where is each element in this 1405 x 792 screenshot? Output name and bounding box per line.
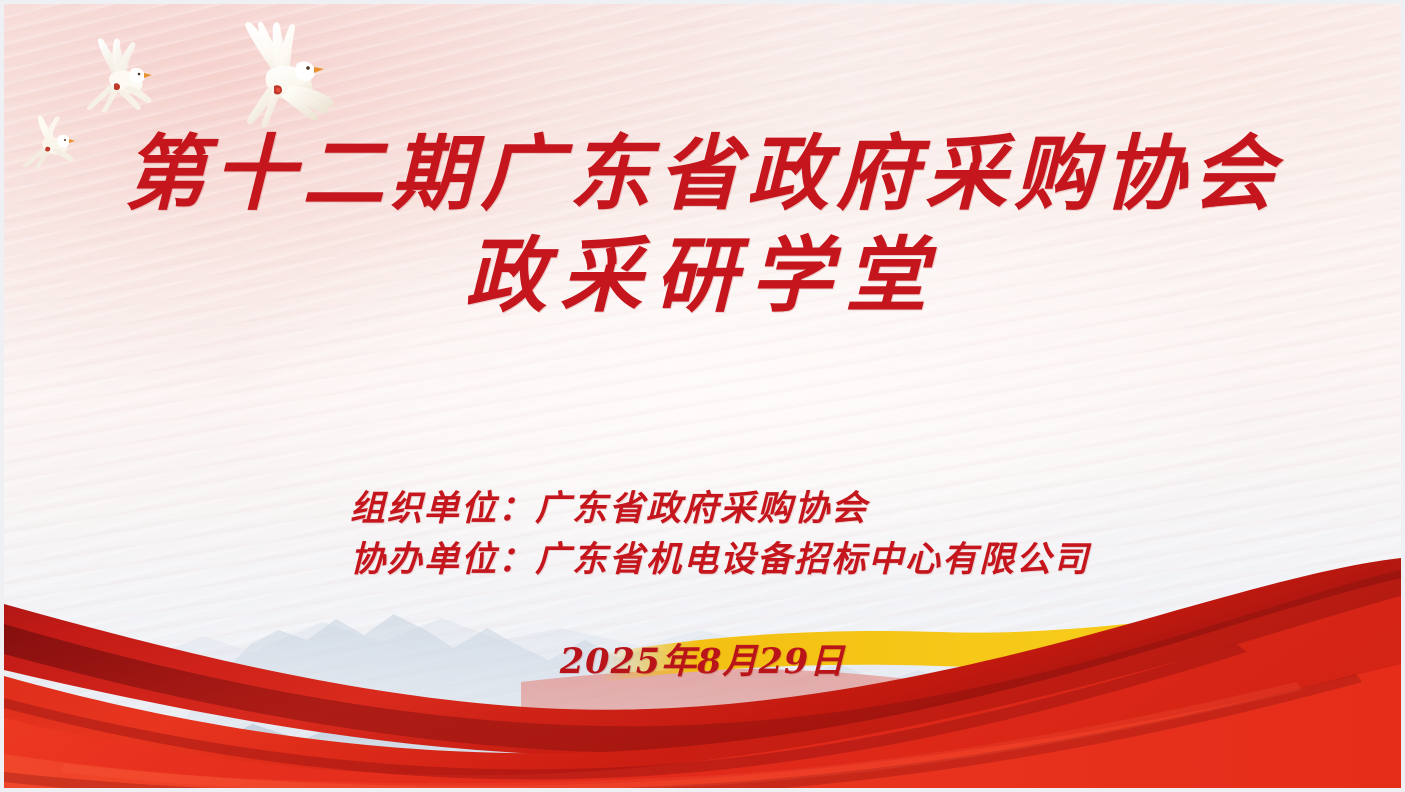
organizer-line: 组织单位：广东省政府采购协会 [350, 484, 1090, 535]
presentation-slide: 第十二期广东省政府采购协会 政采研学堂 组织单位：广东省政府采购协会 协办单位：… [0, 0, 1405, 792]
organizer-block: 组织单位：广东省政府采购协会 协办单位：广东省机电设备招标中心有限公司 [350, 484, 1090, 586]
event-date: 2025年8月29日 [4, 633, 1401, 684]
slide-text-layer: 第十二期广东省政府采购协会 政采研学堂 组织单位：广东省政府采购协会 协办单位：… [4, 4, 1401, 788]
co-organizer-line: 协办单位：广东省机电设备招标中心有限公司 [350, 535, 1090, 586]
slide-title-line-2: 政采研学堂 [4, 232, 1401, 321]
slide-title-line-1: 第十二期广东省政府采购协会 [4, 130, 1401, 219]
